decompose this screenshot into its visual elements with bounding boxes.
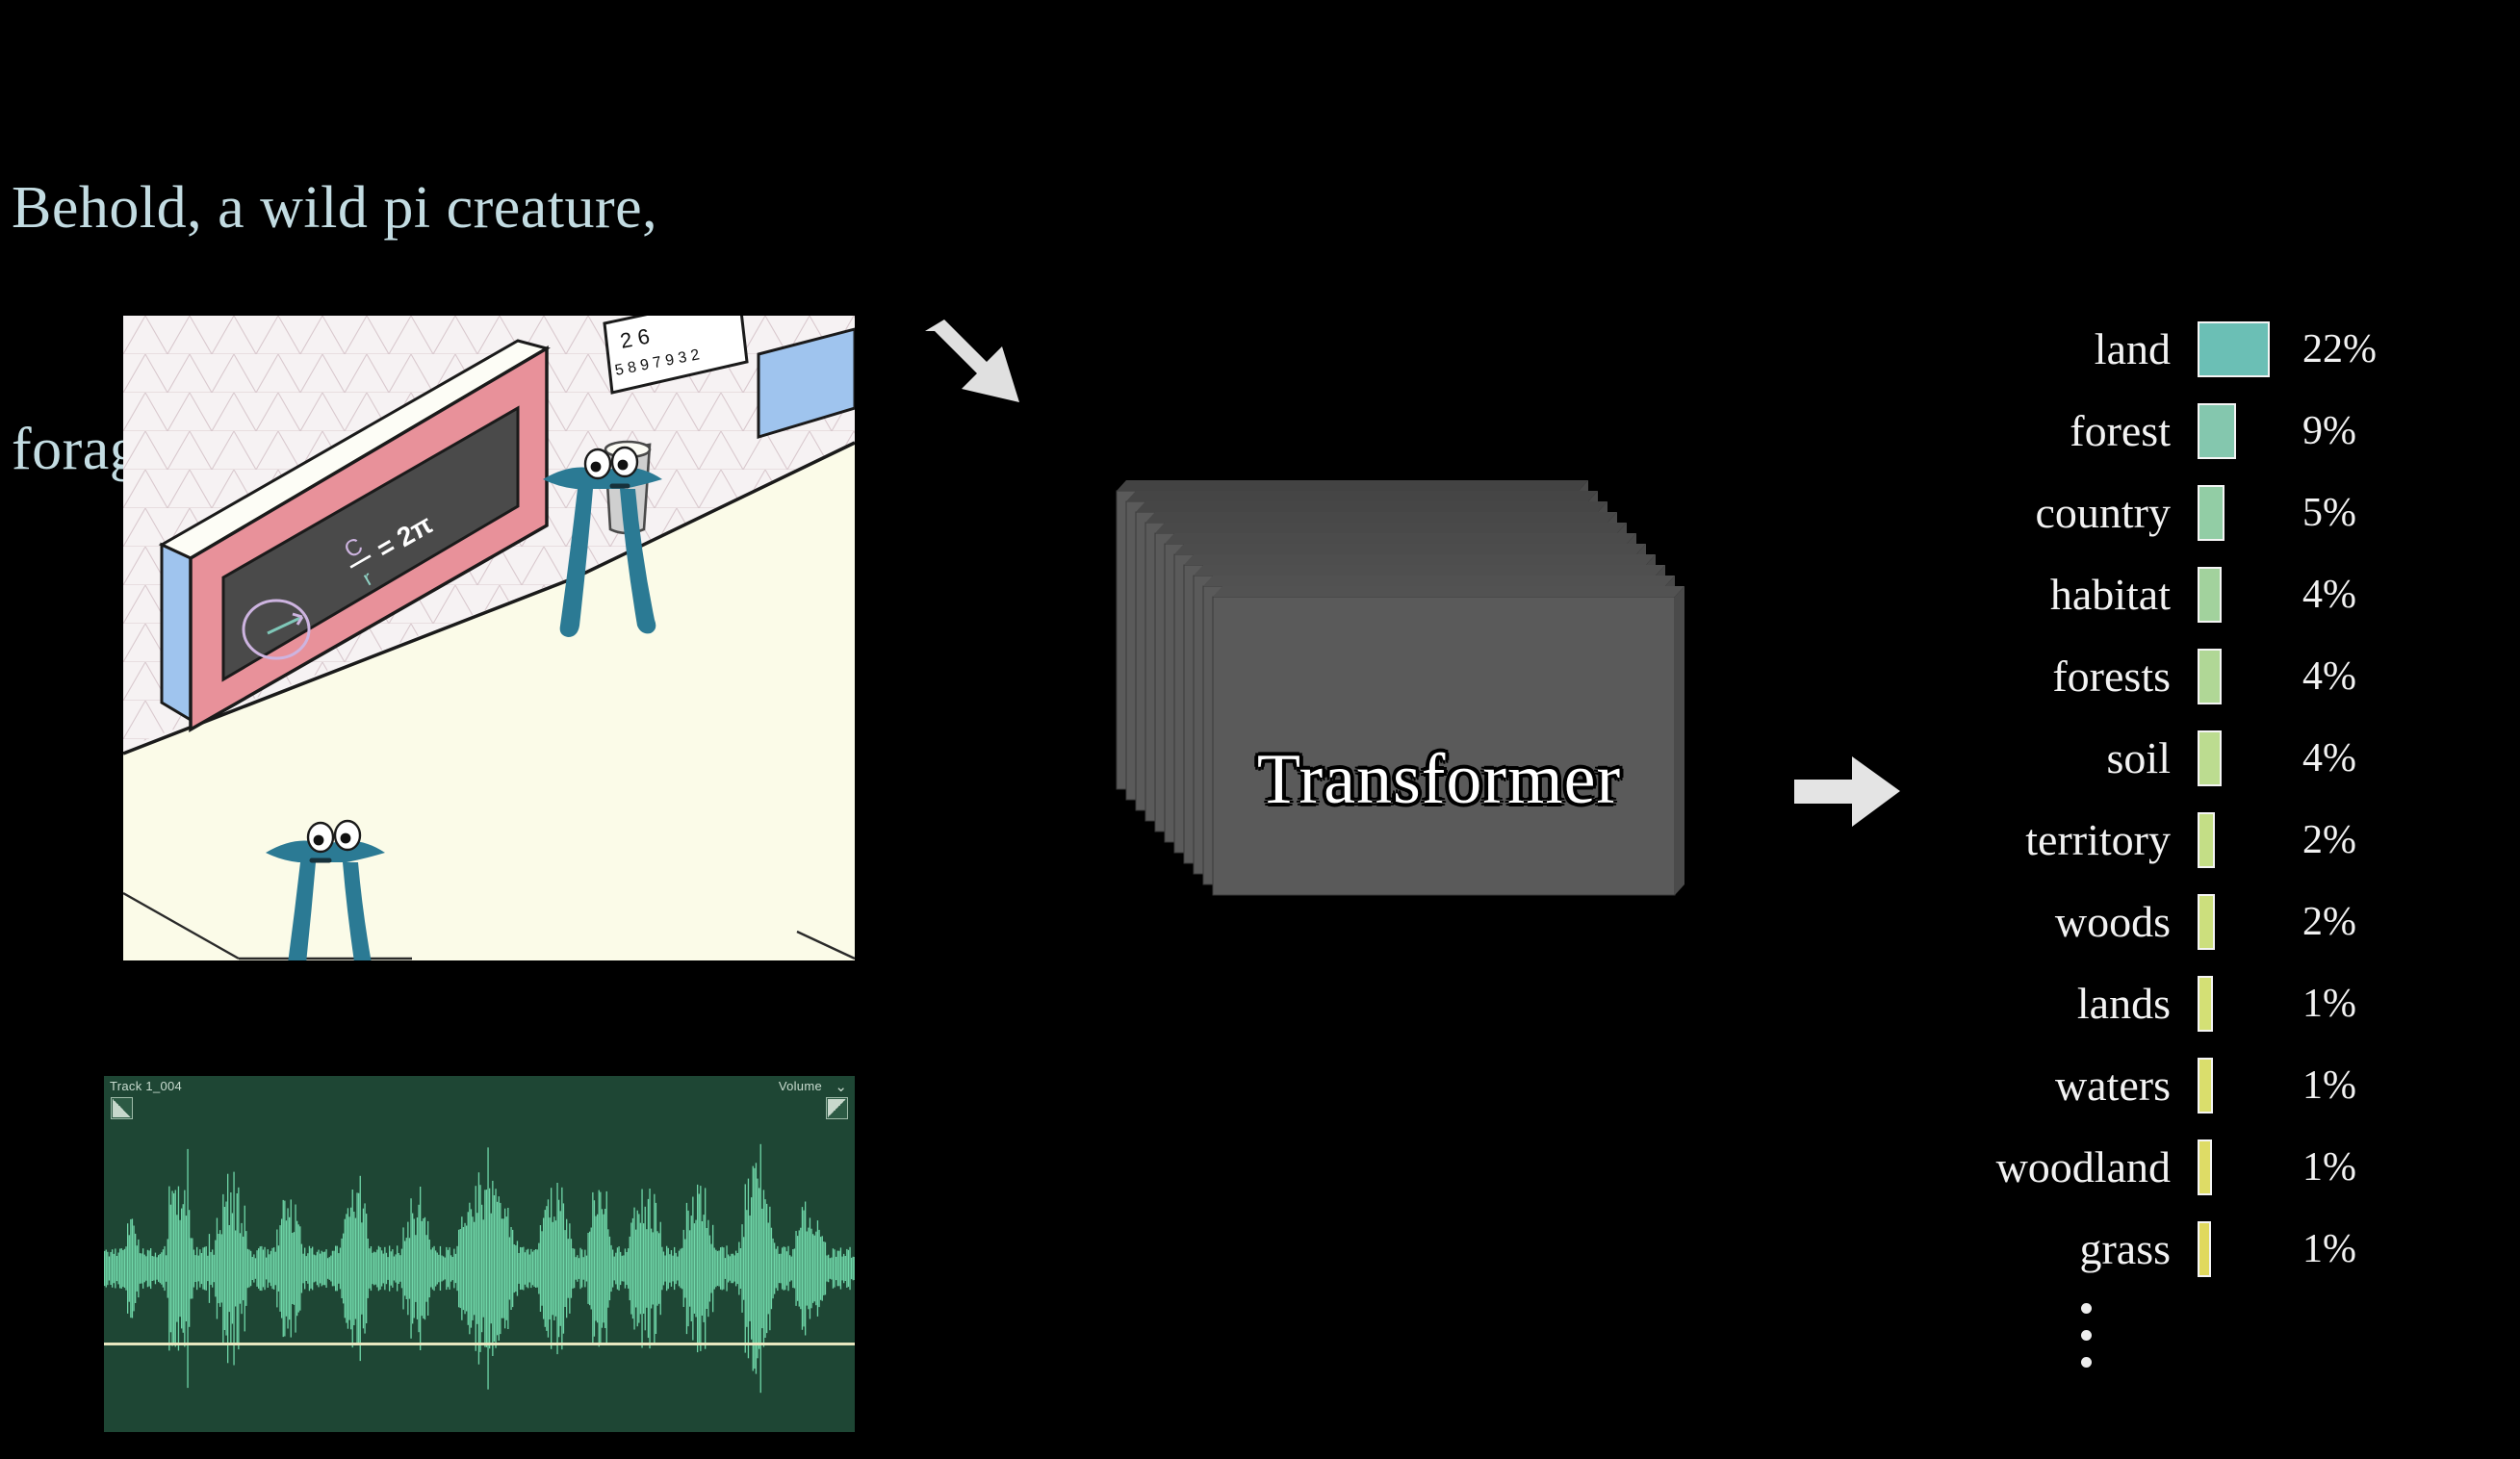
token-label: soil [1858,736,2198,781]
probability-bar [2198,403,2236,459]
probability-label: 4% [2289,572,2356,618]
bar-cell [2198,976,2289,1032]
probability-label: 1% [2289,1144,2356,1190]
token-label: forest [1858,409,2198,453]
token-label: grass [1858,1227,2198,1271]
probability-label: 22% [2289,326,2377,372]
bar-cell [2198,1221,2289,1277]
prompt-line-1: Behold, a wild pi creature, [12,168,1167,249]
bar-cell [2198,894,2289,950]
bar-cell [2198,321,2289,377]
transformer-layer-stack [1088,462,1790,1020]
distribution-row: forests4% [1858,635,2493,717]
distribution-row: forest9% [1858,390,2493,472]
token-label: lands [1858,982,2198,1026]
token-label: woodland [1858,1145,2198,1190]
probability-label: 5% [2289,490,2356,536]
track-label: Track 1_004 [110,1079,182,1093]
token-label: habitat [1858,573,2198,617]
distribution-row: habitat4% [1858,553,2493,635]
ellipsis-dot [2081,1303,2092,1314]
distribution-row: woods2% [1858,881,2493,962]
distribution-row: lands1% [1858,962,2493,1044]
probability-label: 1% [2289,1226,2356,1272]
probability-label: 1% [2289,981,2356,1027]
bar-cell [2198,812,2289,868]
token-label: country [1858,491,2198,535]
waveform-graphic [104,1114,855,1432]
token-probability-distribution: land22%forest9%country5%habitat4%forests… [1858,308,2493,1384]
probability-bar [2198,812,2215,868]
probability-bar [2198,321,2270,377]
probability-bar [2198,730,2222,786]
bar-cell [2198,403,2289,459]
token-label: woods [1858,900,2198,944]
probability-label: 1% [2289,1062,2356,1109]
bar-cell [2198,567,2289,623]
volume-label: Volume [779,1079,822,1093]
token-label: waters [1858,1063,2198,1108]
probability-label: 4% [2289,653,2356,700]
distribution-row: woodland1% [1858,1126,2493,1208]
distribution-row: territory2% [1858,799,2493,881]
probability-label: 2% [2289,899,2356,945]
volume-envelope-line[interactable] [104,1343,855,1345]
bar-cell [2198,1058,2289,1113]
chevron-down-icon[interactable]: ⌄ [835,1078,847,1095]
token-label: territory [1858,818,2198,862]
token-label: land [1858,327,2198,371]
bar-cell [2198,730,2289,786]
distribution-row: land22% [1858,308,2493,390]
transformer-block: Transformer [1088,462,1790,1020]
probability-label: 2% [2289,817,2356,863]
distribution-row: waters1% [1858,1044,2493,1126]
truncation-ellipsis [1858,1290,2198,1368]
distribution-row: country5% [1858,472,2493,553]
diagonal-down-right-arrow-icon [919,318,1025,404]
probability-label: 4% [2289,735,2356,781]
bar-cell [2198,485,2289,541]
distribution-row: soil4% [1858,717,2493,799]
bar-cell [2198,1139,2289,1195]
probability-label: 9% [2289,408,2356,454]
probability-bar [2198,1221,2211,1277]
probability-bar [2198,485,2224,541]
probability-bar [2198,1139,2212,1195]
distribution-row: grass1% [1858,1208,2493,1290]
probability-bar [2198,976,2213,1032]
probability-bar [2198,567,2222,623]
probability-bar [2198,894,2215,950]
classroom-illustration: 2 6 5 8 9 7 9 3 2 C r = 2π [123,316,855,960]
ellipsis-dot [2081,1330,2092,1341]
ellipsis-dot [2081,1357,2092,1368]
bar-cell [2198,649,2289,704]
probability-bar [2198,649,2222,704]
probability-bar [2198,1058,2213,1113]
audio-waveform-panel[interactable]: Track 1_004 Volume ⌄ [104,1076,855,1432]
token-label: forests [1858,654,2198,699]
